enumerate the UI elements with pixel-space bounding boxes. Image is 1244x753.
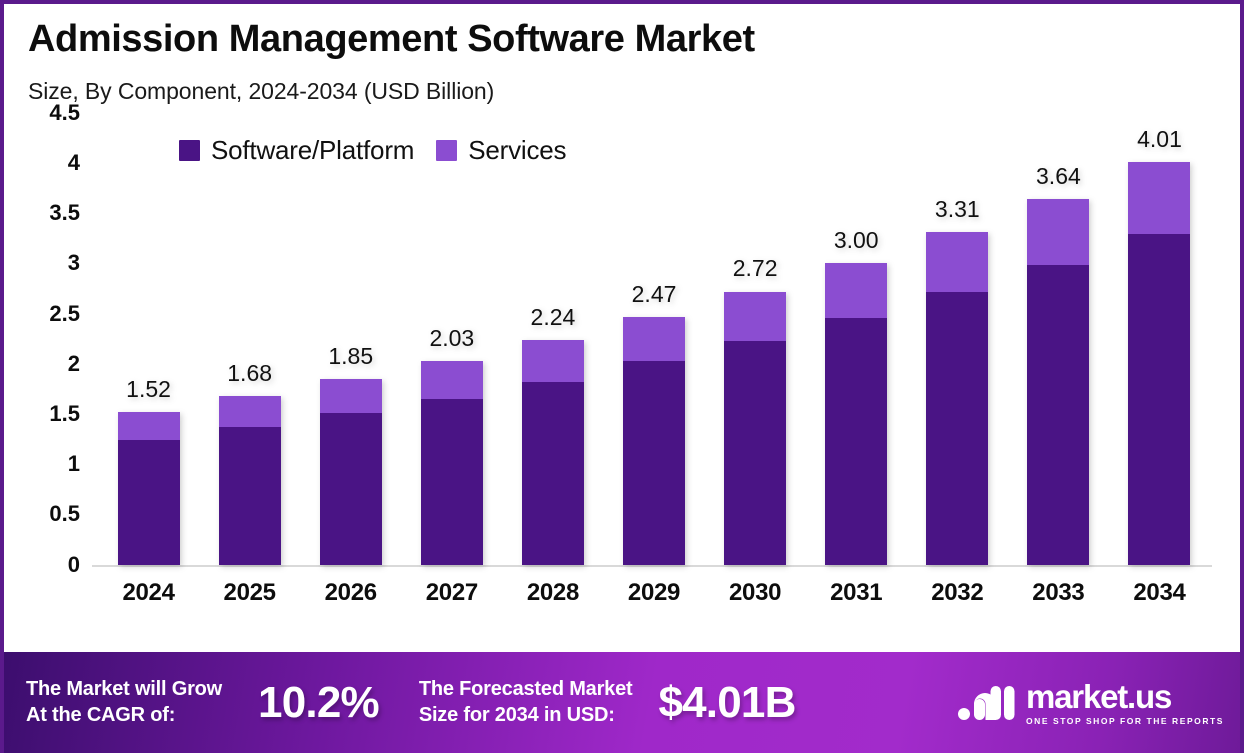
bar-stack[interactable]: 3.31 — [926, 232, 988, 564]
legend-swatch-software — [179, 140, 200, 161]
forecast-value: $4.01B — [658, 678, 795, 728]
bar-value-label: 3.00 — [834, 227, 879, 254]
bar-segment-services[interactable] — [320, 379, 382, 413]
y-axis-tick: 2 — [68, 351, 80, 377]
infographic-root: Admission Management Software Market Siz… — [0, 0, 1244, 753]
y-axis-tick: 3 — [68, 250, 80, 276]
forecast-block: The Forecasted Market Size for 2034 in U… — [419, 677, 796, 728]
y-axis-tick: 0 — [68, 552, 80, 578]
bar-column: 3.31 — [907, 113, 1008, 565]
bar-value-label: 2.47 — [632, 281, 677, 308]
bar-segment-software[interactable] — [522, 382, 584, 565]
bar-segment-software[interactable] — [623, 361, 685, 565]
x-axis: 2024202520262027202820292030203120322033… — [98, 579, 1210, 607]
bar-segment-services[interactable] — [623, 317, 685, 361]
bars-container: 1.521.681.852.032.242.472.723.003.313.64… — [98, 113, 1210, 565]
bar-segment-services[interactable] — [522, 340, 584, 382]
bar-column: 2.03 — [401, 113, 502, 565]
x-axis-tick: 2028 — [502, 579, 603, 607]
legend-swatch-services — [436, 140, 457, 161]
y-axis-tick: 1 — [68, 451, 80, 477]
bar-column: 2.72 — [705, 113, 806, 565]
legend-label-services: Services — [468, 135, 566, 166]
bar-segment-software[interactable] — [1128, 234, 1190, 564]
x-axis-line — [92, 565, 1212, 567]
y-axis-tick: 0.5 — [49, 501, 80, 527]
bar-segment-services[interactable] — [118, 412, 180, 440]
x-axis-tick: 2030 — [705, 579, 806, 607]
y-axis-tick: 3.5 — [49, 200, 80, 226]
market-us-logo[interactable]: market.us ONE STOP SHOP FOR THE REPORTS — [957, 680, 1224, 726]
bar-stack[interactable]: 3.00 — [825, 263, 887, 564]
y-axis-tick: 4.5 — [49, 100, 80, 126]
bar-segment-services[interactable] — [219, 396, 281, 427]
legend-item-software[interactable]: Software/Platform — [179, 135, 414, 166]
footer-banner: The Market will Grow At the CAGR of: 10.… — [4, 652, 1244, 753]
bar-segment-software[interactable] — [926, 292, 988, 564]
bar-segment-software[interactable] — [118, 440, 180, 565]
x-axis-tick: 2032 — [907, 579, 1008, 607]
chart-subtitle: Size, By Component, 2024-2034 (USD Billi… — [28, 78, 1240, 105]
x-axis-tick: 2029 — [603, 579, 704, 607]
legend-label-software: Software/Platform — [211, 135, 414, 166]
bar-column: 1.85 — [300, 113, 401, 565]
forecast-caption: The Forecasted Market Size for 2034 in U… — [419, 677, 633, 728]
chart-header: Admission Management Software Market Siz… — [4, 4, 1240, 105]
bar-segment-software[interactable] — [421, 399, 483, 565]
bar-column: 3.00 — [806, 113, 907, 565]
bar-column: 2.47 — [603, 113, 704, 565]
chart-legend: Software/Platform Services — [179, 135, 566, 166]
forecast-caption-line2: Size for 2034 in USD: — [419, 703, 633, 729]
forecast-caption-line1: The Forecasted Market — [419, 677, 633, 703]
bar-stack[interactable]: 2.03 — [421, 361, 483, 565]
y-axis: 00.511.522.533.544.5 — [4, 113, 90, 565]
cagr-value: 10.2% — [258, 678, 379, 728]
bar-stack[interactable]: 1.68 — [219, 396, 281, 565]
bar-column: 1.68 — [199, 113, 300, 565]
bar-column: 1.52 — [98, 113, 199, 565]
x-axis-tick: 2031 — [806, 579, 907, 607]
logo-tagline: ONE STOP SHOP FOR THE REPORTS — [1026, 716, 1224, 726]
bar-value-label: 2.24 — [531, 304, 576, 331]
bar-column: 3.64 — [1008, 113, 1109, 565]
bar-stack[interactable]: 2.24 — [522, 340, 584, 565]
logo-wordmark: market.us — [1026, 680, 1224, 713]
bar-value-label: 2.03 — [429, 325, 474, 352]
cagr-caption: The Market will Grow At the CAGR of: — [26, 677, 222, 728]
chart-plot-area: Software/Platform Services 00.511.522.53… — [4, 113, 1240, 623]
market-us-logo-icon — [957, 683, 1015, 723]
bar-value-label: 3.64 — [1036, 163, 1081, 190]
x-axis-tick: 2033 — [1008, 579, 1109, 607]
bar-stack[interactable]: 1.52 — [118, 412, 180, 565]
cagr-caption-line2: At the CAGR of: — [26, 703, 222, 729]
bar-segment-services[interactable] — [926, 232, 988, 292]
bar-value-label: 1.85 — [328, 343, 373, 370]
bar-stack[interactable]: 1.85 — [320, 379, 382, 565]
cagr-caption-line1: The Market will Grow — [26, 677, 222, 703]
cagr-block: The Market will Grow At the CAGR of: 10.… — [26, 677, 379, 728]
bar-segment-services[interactable] — [1027, 199, 1089, 265]
bar-segment-services[interactable] — [1128, 162, 1190, 234]
bar-stack[interactable]: 2.47 — [623, 317, 685, 565]
bar-segment-services[interactable] — [421, 361, 483, 399]
legend-item-services[interactable]: Services — [436, 135, 566, 166]
market-us-logo-text: market.us ONE STOP SHOP FOR THE REPORTS — [1026, 680, 1224, 726]
y-axis-tick: 1.5 — [49, 401, 80, 427]
bar-segment-services[interactable] — [724, 292, 786, 341]
bar-stack[interactable]: 4.01 — [1128, 162, 1190, 565]
bar-segment-software[interactable] — [825, 318, 887, 565]
x-axis-tick: 2026 — [300, 579, 401, 607]
bar-segment-software[interactable] — [320, 413, 382, 565]
x-axis-tick: 2034 — [1109, 579, 1210, 607]
bar-segment-services[interactable] — [825, 263, 887, 317]
bar-column: 4.01 — [1109, 113, 1210, 565]
bar-segment-software[interactable] — [724, 341, 786, 565]
bar-segment-software[interactable] — [1027, 265, 1089, 564]
bar-stack[interactable]: 2.72 — [724, 291, 786, 564]
bar-value-label: 1.52 — [126, 376, 171, 403]
x-axis-tick: 2025 — [199, 579, 300, 607]
y-axis-tick: 2.5 — [49, 301, 80, 327]
bar-column: 2.24 — [502, 113, 603, 565]
bar-value-label: 2.72 — [733, 255, 778, 282]
x-axis-tick: 2024 — [98, 579, 199, 607]
bar-value-label: 1.68 — [227, 360, 272, 387]
bar-value-label: 3.31 — [935, 196, 980, 223]
bar-value-label: 4.01 — [1137, 126, 1182, 153]
bar-stack[interactable]: 3.64 — [1027, 199, 1089, 565]
y-axis-tick: 4 — [68, 150, 80, 176]
bar-segment-software[interactable] — [219, 427, 281, 565]
page-title: Admission Management Software Market — [28, 18, 1240, 62]
x-axis-tick: 2027 — [401, 579, 502, 607]
